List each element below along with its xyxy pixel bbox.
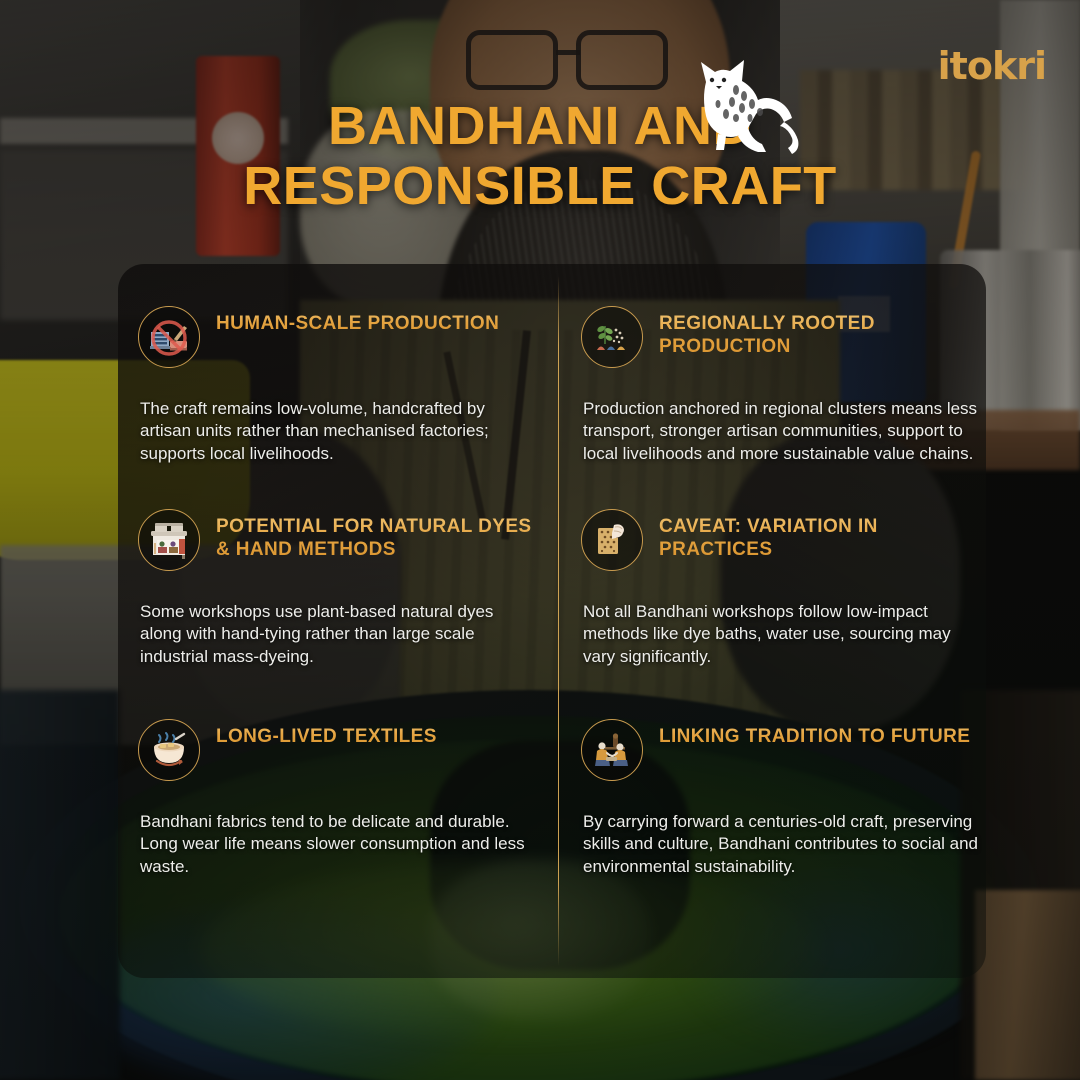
card-title: LINKING TRADITION TO FUTURE	[659, 719, 970, 748]
card-body: By carrying forward a centuries-old craf…	[583, 811, 981, 878]
card-human-scale-production: HUMAN-SCALE PRODUCTION The craft remains…	[138, 306, 538, 465]
card-body: Some workshops use plant-based natural d…	[140, 601, 538, 668]
card-title: LONG-LIVED TEXTILES	[216, 719, 437, 748]
card-body: The craft remains low-volume, handcrafte…	[140, 398, 538, 465]
card-title: HUMAN-SCALE PRODUCTION	[216, 306, 499, 335]
no-factory-machine-icon	[138, 306, 200, 368]
card-header: REGIONALLY ROOTED PRODUCTION	[581, 306, 981, 368]
title-line-1: BANDHANI AND	[0, 96, 1080, 156]
card-header: CAVEAT: VARIATION IN PRACTICES	[581, 509, 981, 571]
card-caveat-variation-in-practices: CAVEAT: VARIATION IN PRACTICES Not all B…	[581, 509, 981, 668]
card-header: HUMAN-SCALE PRODUCTION	[138, 306, 538, 368]
card-body: Not all Bandhani workshops follow low-im…	[583, 601, 981, 668]
dye-workshop-building-icon	[138, 509, 200, 571]
card-title: POTENTIAL FOR NATURAL DYES & HAND METHOD…	[216, 509, 538, 561]
seedling-soil-mounds-icon	[581, 306, 643, 368]
card-natural-dyes-hand-methods: POTENTIAL FOR NATURAL DYES & HAND METHOD…	[138, 509, 538, 668]
card-linking-tradition-to-future: LINKING TRADITION TO FUTURE By carrying …	[581, 719, 981, 878]
two-artisans-working-icon	[581, 719, 643, 781]
right-column: REGIONALLY ROOTED PRODUCTION Production …	[559, 264, 991, 978]
card-body: Production anchored in regional clusters…	[583, 398, 981, 465]
card-title: CAVEAT: VARIATION IN PRACTICES	[659, 509, 981, 561]
hand-holding-patterned-fabric-icon	[581, 509, 643, 571]
card-body: Bandhani fabrics tend to be delicate and…	[140, 811, 538, 878]
card-regionally-rooted-production: REGIONALLY ROOTED PRODUCTION Production …	[581, 306, 981, 465]
brand-logo-text: itokri	[938, 47, 1046, 85]
content-panel: HUMAN-SCALE PRODUCTION The craft remains…	[118, 264, 986, 978]
card-long-lived-textiles: LONG-LIVED TEXTILES Bandhani fabrics ten…	[138, 719, 538, 878]
card-title: REGIONALLY ROOTED PRODUCTION	[659, 306, 981, 358]
page-title: BANDHANI AND RESPONSIBLE CRAFT	[0, 96, 1080, 217]
brand-logo[interactable]: itokri	[948, 44, 1046, 88]
steaming-dye-pot-icon	[138, 719, 200, 781]
card-header: POTENTIAL FOR NATURAL DYES & HAND METHOD…	[138, 509, 538, 571]
cat-icon	[688, 56, 808, 160]
card-header: LINKING TRADITION TO FUTURE	[581, 719, 981, 781]
title-line-2: RESPONSIBLE CRAFT	[0, 156, 1080, 216]
card-header: LONG-LIVED TEXTILES	[138, 719, 538, 781]
left-column: HUMAN-SCALE PRODUCTION The craft remains…	[118, 264, 550, 978]
